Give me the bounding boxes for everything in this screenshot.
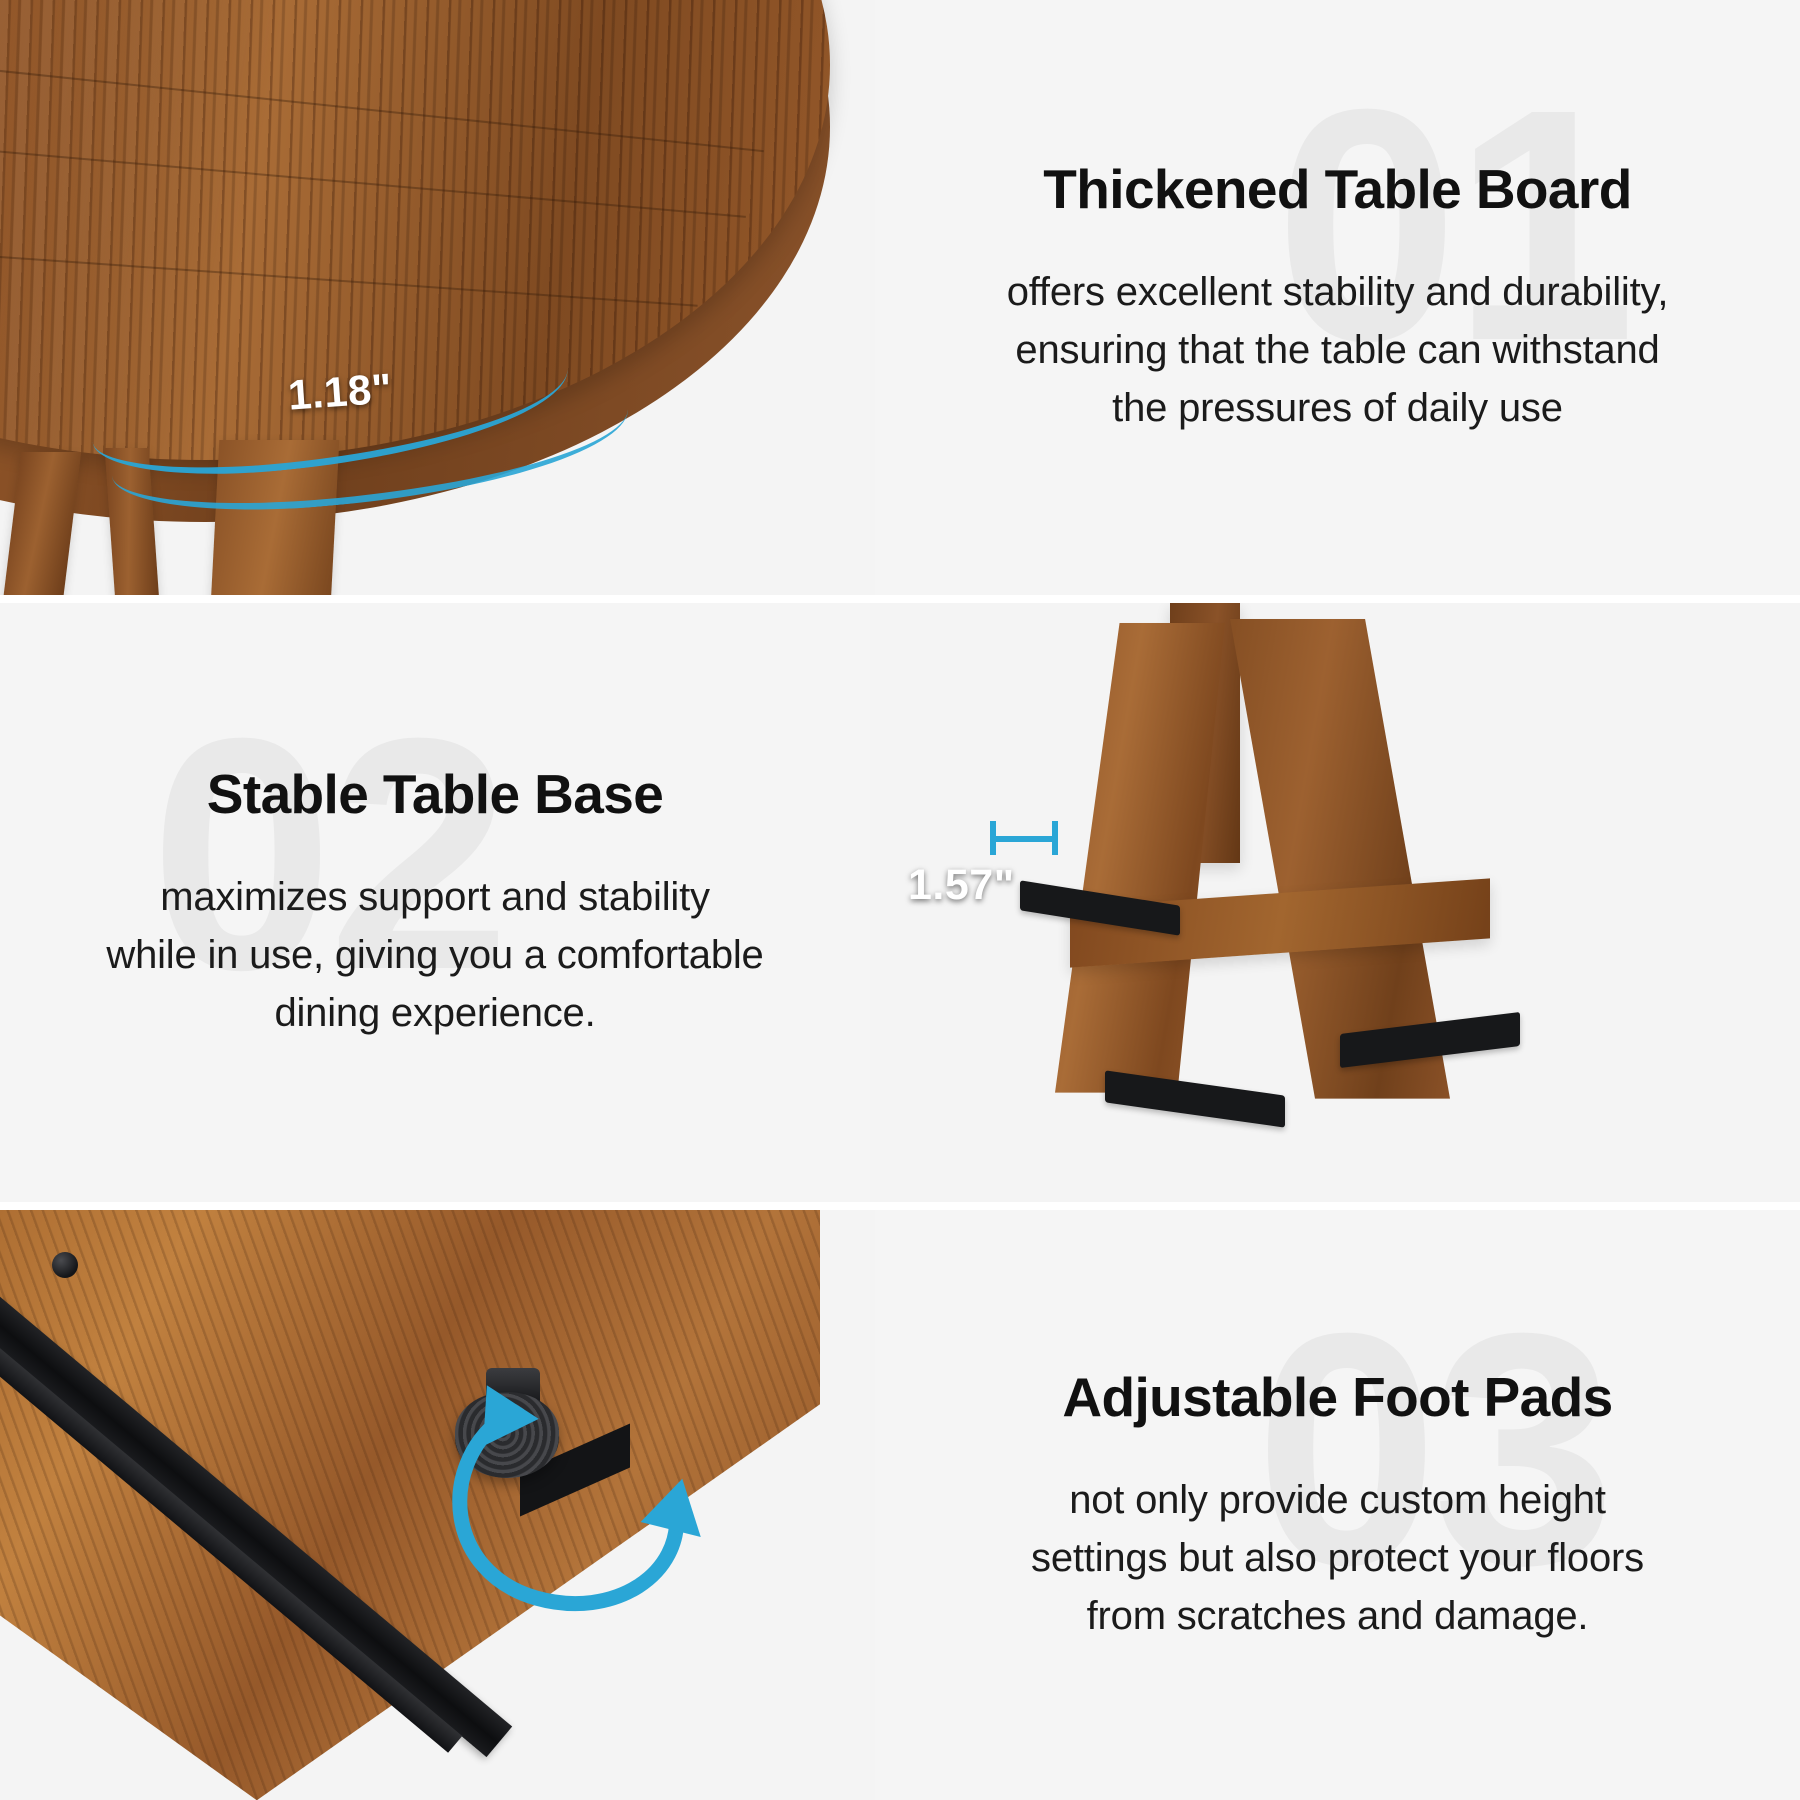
dimension-label-1-18: 1.18" xyxy=(286,364,393,419)
panel-1-body-line-1: offers excellent stability and durabilit… xyxy=(1007,263,1669,321)
product-feature-infographic: 1.18" 01 Thickened Table Board offers ex… xyxy=(0,0,1800,1800)
panel-1-body: offers excellent stability and durabilit… xyxy=(1007,263,1669,437)
panel-2-text: 02 Stable Table Base maximizes support a… xyxy=(0,603,870,1203)
panel-1-photo: 1.18" xyxy=(0,0,875,595)
panel-3-body-line-1: not only provide custom height xyxy=(1031,1471,1644,1529)
panel-3-heading: Adjustable Foot Pads xyxy=(1062,1365,1612,1429)
rotation-arrow-icon xyxy=(408,1360,738,1660)
panel-1-body-line-3: the pressures of daily use xyxy=(1007,379,1669,437)
panel-2-photo: 1.57" xyxy=(870,603,1800,1203)
panel-divider-1 xyxy=(0,595,1800,603)
feature-panel-3: 03 Adjustable Foot Pads not only provide… xyxy=(0,1210,1800,1800)
width-dimension-marker xyxy=(988,821,1060,855)
base-left-leg xyxy=(1055,623,1225,1093)
panel-1-body-line-2: ensuring that the table can withstand xyxy=(1007,321,1669,379)
panel-3-text: 03 Adjustable Foot Pads not only provide… xyxy=(875,1210,1800,1800)
foot-cap xyxy=(1105,1070,1285,1127)
table-leg xyxy=(3,452,81,595)
panel-divider-2 xyxy=(0,1202,1800,1210)
dimension-cap-right xyxy=(1052,821,1058,855)
table-top-illustration: 1.18" xyxy=(0,0,875,595)
feature-panel-1: 1.18" 01 Thickened Table Board offers ex… xyxy=(0,0,1800,595)
table-base-illustration: 1.57" xyxy=(870,603,1800,1203)
panel-2-body: maximizes support and stability while in… xyxy=(106,868,763,1042)
panel-2-heading: Stable Table Base xyxy=(207,762,663,826)
feature-panel-2: 02 Stable Table Base maximizes support a… xyxy=(0,603,1800,1203)
panel-1-heading: Thickened Table Board xyxy=(1043,157,1631,221)
panel-1-text: 01 Thickened Table Board offers excellen… xyxy=(875,0,1800,595)
panel-3-body-line-2: settings but also protect your floors xyxy=(1031,1529,1644,1587)
panel-2-body-line-3: dining experience. xyxy=(106,984,763,1042)
dimension-label-1-57: 1.57" xyxy=(908,861,1015,910)
panel-2-body-line-1: maximizes support and stability xyxy=(106,868,763,926)
dimension-bar xyxy=(992,836,1056,842)
panel-3-body-line-3: from scratches and damage. xyxy=(1031,1587,1644,1645)
panel-3-body: not only provide custom height settings … xyxy=(1031,1471,1644,1645)
panel-2-body-line-2: while in use, giving you a comfortable xyxy=(106,926,763,984)
